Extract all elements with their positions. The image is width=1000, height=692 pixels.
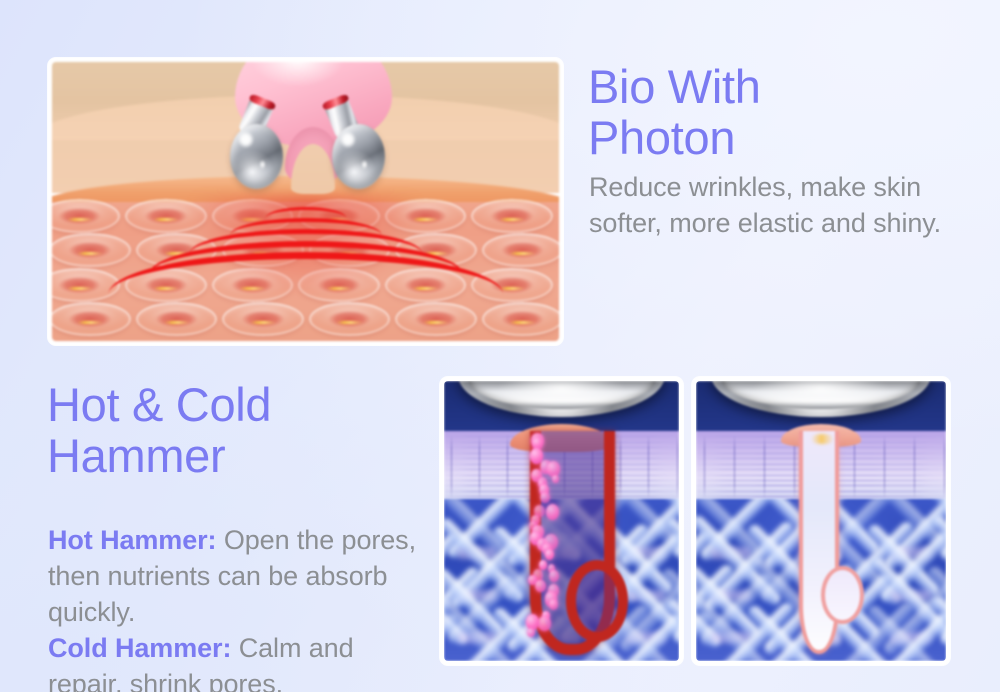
bio-photon-description: Reduce wrinkles, make skin softer, more … <box>589 170 961 242</box>
open-pore-illustration <box>444 381 679 661</box>
nutrient-granule <box>549 599 558 610</box>
sebum-highlight <box>811 434 834 444</box>
cold-hammer-paragraph: Cold Hammer: Calm and repair, shrink por… <box>48 633 354 692</box>
electrode-highlight <box>260 159 265 169</box>
sebaceous-bulb-shrunk <box>821 566 864 624</box>
sebaceous-bulb-open <box>566 560 628 642</box>
follicle-open <box>444 381 679 661</box>
cold-hammer-shrunk-pore-image <box>692 377 950 665</box>
dermis-cell <box>52 233 131 267</box>
bio-photon-heading: Bio With Photon <box>588 62 980 164</box>
hot-hammer-label: Hot Hammer: <box>48 525 216 555</box>
nutrient-granule <box>546 504 559 520</box>
nutrient-granule <box>540 492 549 503</box>
dermis-cell <box>482 233 559 267</box>
skin-illustration <box>52 62 559 341</box>
promo-canvas: Bio With Photon Reduce wrinkles, make sk… <box>0 0 1000 692</box>
follicle-shrunk <box>696 381 946 661</box>
hot-cold-hammer-heading: Hot & Cold Hammer <box>47 380 407 482</box>
dermis-cell <box>52 199 120 233</box>
skin-cross-section-image <box>48 58 563 345</box>
nutrient-granule <box>547 461 560 477</box>
nutrient-granule <box>545 549 554 560</box>
electrode-ball-left <box>230 124 283 189</box>
hot-cold-hammer-description: Hot Hammer: Open the pores, then nutrien… <box>48 487 430 692</box>
nutrient-granule <box>535 580 545 592</box>
electrode-highlight <box>362 159 367 169</box>
cold-hammer-label: Cold Hammer: <box>48 633 231 663</box>
nutrient-granule <box>527 628 535 638</box>
nutrient-granule <box>538 616 550 630</box>
nutrient-granule <box>539 560 547 569</box>
hot-hammer-paragraph: Hot Hammer: Open the pores, then nutrien… <box>48 525 416 627</box>
hot-hammer-open-pore-image <box>440 377 683 665</box>
nutrient-granule <box>552 475 558 483</box>
shrunk-pore-illustration <box>696 381 946 661</box>
energy-wave-arc <box>108 252 503 337</box>
dermis-cell <box>471 199 553 233</box>
bipolar-device <box>235 62 392 179</box>
